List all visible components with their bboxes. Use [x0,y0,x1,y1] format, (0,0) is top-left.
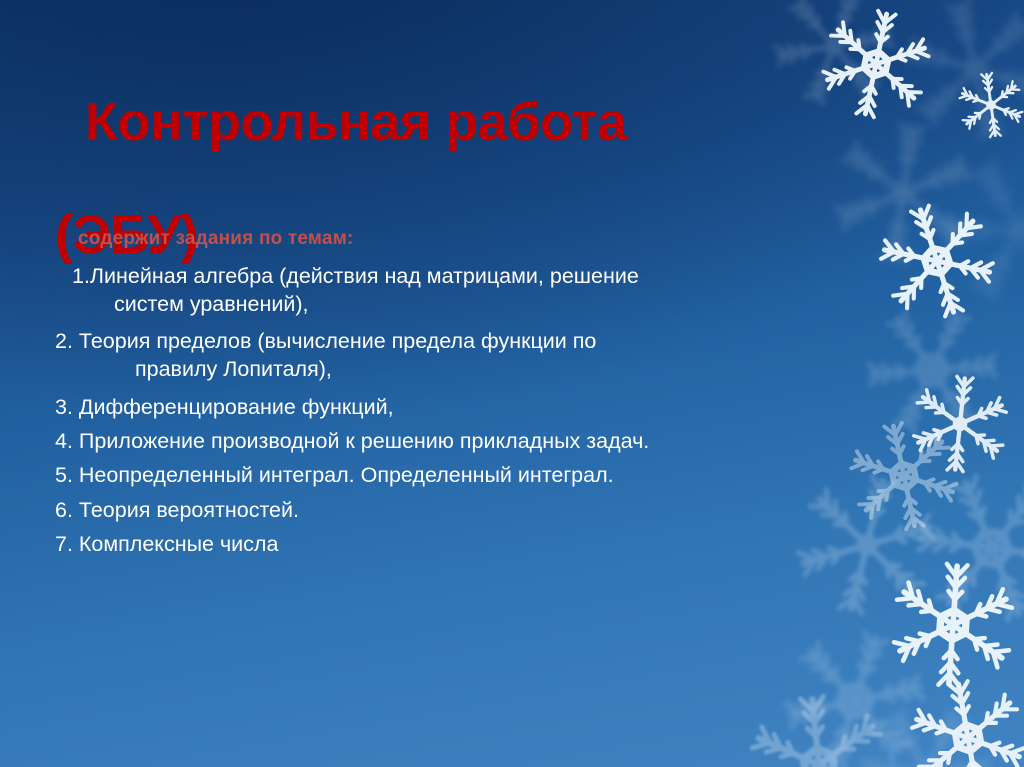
list-item-text: 5. Неопределенный интеграл. Определенный… [55,463,614,487]
snowflake-right-ghost-c-icon [911,121,1024,340]
snowflake-upper-faint-b-icon [884,0,1024,160]
snowflake-bottom-right-big-icon [881,553,1024,696]
list-item: 3. Дифференцирование функций, [55,393,885,421]
list-item-text: 7. Комплексные числа [55,532,278,556]
list-item: 1.Линейная алгебра (действия над матрица… [55,262,885,319]
list-item-text: 6. Теория вероятностей. [55,498,299,522]
topics-list: 1.Линейная алгебра (действия над матрица… [55,262,885,564]
list-item: 6. Теория вероятностей. [55,496,885,524]
snowflake-bottom-outline-icon [737,683,902,767]
list-item-text: 2. Теория пределов (вычисление предела ф… [55,329,596,353]
list-item-wrap-text: правилу Лопиталя), [55,355,885,383]
title-line-1: Контрольная работа [55,94,855,150]
list-item: 5. Неопределенный интеграл. Определенный… [55,461,885,489]
snowflake-bottom-faint-b-icon [830,674,1021,767]
list-item: 2. Теория пределов (вычисление предела ф… [55,327,885,384]
snowflake-lower-right-a-icon [903,367,1017,481]
snowflake-bottom-faint-a-icon [760,606,949,767]
snowflake-lower-faint-b-icon [888,444,1024,652]
snowflake-bottom-right-low-icon [896,666,1024,767]
list-item: 7. Комплексные числа [55,530,885,558]
list-item-wrap-text: систем уравнений), [72,290,885,318]
snowflake-top-right-small-icon [951,65,1024,144]
subheader-text: содержит задания по темам: [78,228,354,250]
list-item-text: 3. Дифференцирование функций, [55,395,394,419]
list-item-text: 4. Приложение производной к решению прик… [55,429,649,453]
presentation-slide: Контрольная работа (ЭБУ) содержит задани… [0,0,1024,767]
list-item-text: 1.Линейная алгебра (действия над матрица… [72,264,639,288]
list-item: 4. Приложение производной к решению прик… [55,427,885,455]
